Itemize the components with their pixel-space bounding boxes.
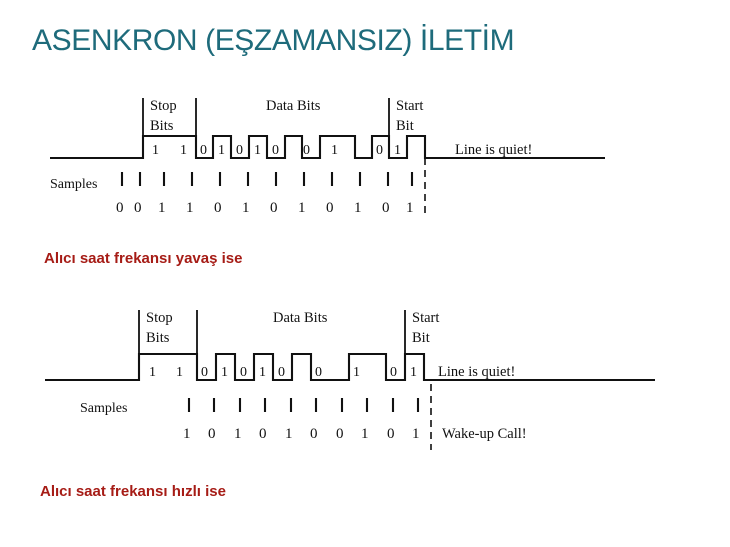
sample-bit: 0	[214, 200, 222, 216]
start-label: Start	[396, 98, 423, 114]
sample-bit: 0	[116, 200, 124, 216]
waveform-bit: 0	[201, 365, 208, 380]
sample-bit: 1	[361, 426, 369, 442]
waveform-bit: 0	[272, 143, 279, 158]
waveform-bit: 0	[236, 143, 243, 158]
asynchronous-timing-diagram-fast: Stop Bits Data Bits Start Bit 1 1 0 1 0 …	[0, 300, 730, 460]
sample-bit: 0	[326, 200, 334, 216]
sample-bit: 0	[208, 426, 216, 442]
waveform-bit: 0	[200, 143, 207, 158]
sample-bit: 1	[183, 426, 191, 442]
waveform-bit: 0	[315, 365, 322, 380]
sample-bit: 0	[134, 200, 142, 216]
waveform-bit: 1	[394, 143, 401, 158]
waveform-bit: 0	[278, 365, 285, 380]
sample-bit: 0	[310, 426, 318, 442]
waveform-bit: 1	[149, 365, 156, 380]
waveform-bit: 1	[152, 143, 159, 158]
line-quiet-label: Line is quiet!	[438, 364, 515, 380]
waveform-bit: 0	[390, 365, 397, 380]
wakeup-call-label: Wake-up Call!	[442, 426, 527, 442]
sample-bit: 1	[242, 200, 250, 216]
signal-waveform	[45, 354, 655, 380]
waveform-bit: 1	[331, 143, 338, 158]
waveform-bit: 1	[176, 365, 183, 380]
sample-bit: 1	[354, 200, 362, 216]
start-bit-label: Bit	[412, 330, 430, 346]
slide-canvas: ASENKRON (EŞZAMANSIZ) İLETİM Stop Bits D…	[0, 0, 730, 547]
asynchronous-timing-diagram-slow: Stop Bits Data Bits Start Bit 1 1 0 1 0 …	[0, 88, 730, 238]
data-bits-label: Data Bits	[273, 310, 328, 326]
sample-bit: 0	[270, 200, 278, 216]
waveform-bit: 0	[240, 365, 247, 380]
sample-bit: 1	[406, 200, 414, 216]
sample-bit: 0	[259, 426, 267, 442]
sample-bit: 1	[186, 200, 194, 216]
waveform-bit: 0	[303, 143, 310, 158]
data-bits-label: Data Bits	[266, 98, 321, 114]
sample-bit: 1	[158, 200, 166, 216]
sample-bit: 0	[387, 426, 395, 442]
waveform-bit: 1	[254, 143, 261, 158]
stop-label: Stop	[146, 310, 173, 326]
waveform-bit: 0	[376, 143, 383, 158]
page-title: ASENKRON (EŞZAMANSIZ) İLETİM	[32, 24, 514, 58]
start-bit-label: Bit	[396, 118, 414, 134]
note-fast-clock: Alıcı saat frekansı hızlı ise	[40, 483, 226, 500]
sample-bit: 1	[298, 200, 306, 216]
bits-label: Bits	[150, 118, 174, 134]
waveform-bit: 1	[180, 143, 187, 158]
sample-bit: 0	[382, 200, 390, 216]
note-slow-clock: Alıcı saat frekansı yavaş ise	[44, 250, 242, 267]
waveform-bit: 1	[218, 143, 225, 158]
waveform-bit: 1	[221, 365, 228, 380]
sample-bit: 1	[285, 426, 293, 442]
waveform-bit: 1	[353, 365, 360, 380]
sample-bit: 0	[336, 426, 344, 442]
bits-label: Bits	[146, 330, 170, 346]
sample-bit: 1	[412, 426, 420, 442]
samples-label: Samples	[80, 401, 127, 416]
samples-label: Samples	[50, 177, 97, 192]
sample-bit: 1	[234, 426, 242, 442]
stop-label: Stop	[150, 98, 177, 114]
line-quiet-label: Line is quiet!	[455, 142, 532, 158]
waveform-bit: 1	[259, 365, 266, 380]
waveform-bit: 1	[410, 365, 417, 380]
start-label: Start	[412, 310, 439, 326]
